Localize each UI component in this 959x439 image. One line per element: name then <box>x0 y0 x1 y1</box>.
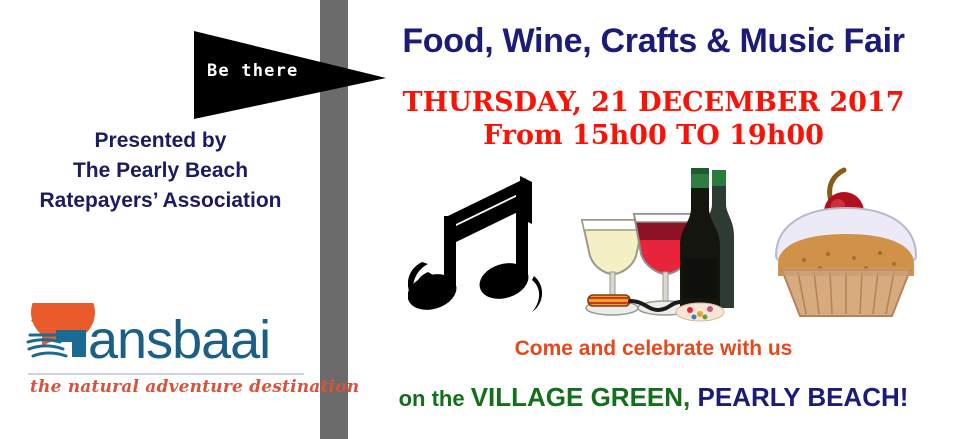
presented-by-line-2: The Pearly Beach <box>8 156 313 186</box>
presented-by-line-1: Presented by <box>8 126 313 156</box>
presented-by-block: Presented by The Pearly Beach Ratepayers… <box>8 126 313 216</box>
pennant-label: Be there <box>207 61 298 81</box>
venue-prefix: on the <box>399 386 471 411</box>
wine-glasses-and-bottle-icon <box>560 162 745 322</box>
venue-line: on the VILLAGE GREEN, PEARLY BEACH! <box>348 382 959 413</box>
gansbaai-logo-mark: ansbaai <box>22 303 307 375</box>
music-note-art <box>408 164 548 322</box>
venue-village-green: VILLAGE GREEN, <box>471 382 691 412</box>
confetti-cluster <box>676 303 724 321</box>
gansbaai-wordmark-icon: ansbaai <box>22 303 307 375</box>
cupcake-art <box>762 164 930 322</box>
gansbaai-logo: ansbaai the natural adventure destinatio… <box>22 303 307 403</box>
graphics-strip <box>400 162 945 327</box>
svg-text:ansbaai: ansbaai <box>88 310 270 370</box>
celebrate-line: Come and celebrate with us <box>348 337 959 361</box>
presented-by-line-3: Ratepayers’ Association <box>8 186 313 216</box>
event-time: From 15h00 TO 19h00 <box>348 120 959 151</box>
venue-pearly-beach: PEARLY BEACH! <box>690 382 908 412</box>
flyer-canvas: Be there Presented by The Pearly Beach R… <box>0 0 959 439</box>
logo-tagline: the natural adventure destination <box>30 377 308 397</box>
music-note-icon <box>408 164 548 322</box>
event-date: THURSDAY, 21 DECEMBER 2017 <box>348 87 959 118</box>
logo-divider-rule <box>28 373 304 375</box>
wine-art <box>560 162 745 322</box>
fair-title: Food, Wine, Crafts & Music Fair <box>348 22 959 61</box>
cupcake-icon <box>762 164 930 322</box>
